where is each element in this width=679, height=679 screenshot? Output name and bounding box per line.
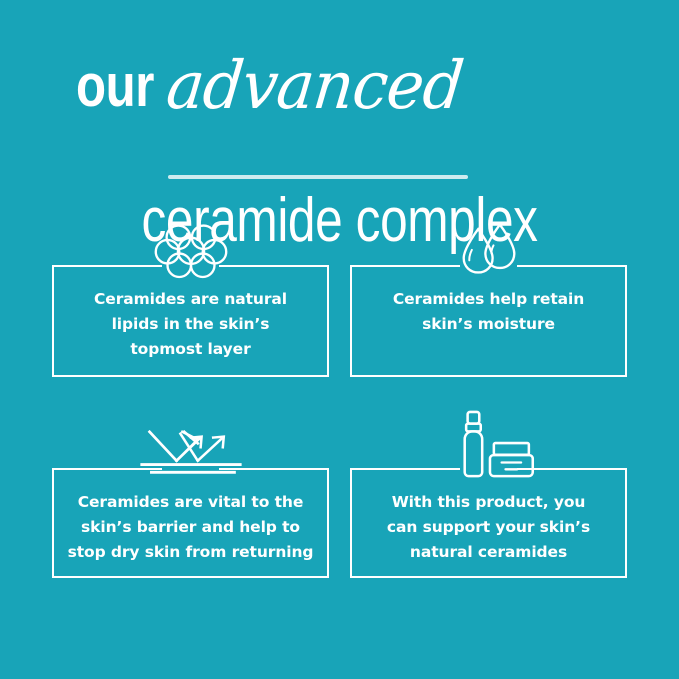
headline-line-1: ouradvanced [0,52,679,120]
headline-word-advanced: advanced [164,52,467,120]
fact-card-text: With this product, you can support your … [360,490,617,565]
page-title: ouradvanced ceramide complex [0,52,679,120]
fact-card-text: Ceramides help retain skin’s moisture [360,287,617,337]
card-top-border-left [350,265,460,267]
card-top-border-right [517,265,627,267]
fact-grid: Ceramides are natural lipids in the skin… [52,267,628,578]
ceramide-complex-infographic: ouradvanced ceramide complex [0,0,679,679]
fact-text-line: stop dry skin from returning [62,540,319,565]
card-top-border-right [219,265,329,267]
card-top-border-left [52,265,162,267]
skin-barrier-deflect-icon [136,426,246,480]
fact-text-line: topmost layer [62,337,319,362]
card-top-border-left [52,468,162,470]
fact-text-line: lipids in the skin’s [62,312,319,337]
fact-row-2: Ceramides are vital to the skin’s barrie… [52,470,628,578]
headline-word-our: our [76,52,154,120]
headline-line-2: ceramide complex [0,185,679,257]
card-top-border-left [350,468,460,470]
fact-card-ceramides-retain-moisture: Ceramides help retain skin’s moisture [350,267,627,377]
fact-text-line: natural ceramides [360,540,617,565]
fact-text-line: Ceramides are vital to the [62,490,319,515]
fact-card-text: Ceramides are natural lipids in the skin… [62,287,319,362]
headline-subtitle-text: ceramide complex [141,185,537,257]
fact-row-1: Ceramides are natural lipids in the skin… [52,267,628,377]
fact-text-line: Ceramides help retain [360,287,617,312]
fact-text-line: Ceramides are natural [62,287,319,312]
card-top-border-right [219,468,329,470]
card-top-border-right [517,468,627,470]
fact-card-support-natural-ceramides: With this product, you can support your … [350,470,627,578]
fact-text-line: With this product, you [360,490,617,515]
fact-text-line: skin’s moisture [360,312,617,337]
fact-text-line: skin’s barrier and help to [62,515,319,540]
fact-card-ceramides-natural-lipids: Ceramides are natural lipids in the skin… [52,267,329,377]
headline-underline [168,175,468,179]
fact-text-line: can support your skin’s [360,515,617,540]
fact-card-ceramides-vital-barrier: Ceramides are vital to the skin’s barrie… [52,470,329,578]
fact-card-text: Ceramides are vital to the skin’s barrie… [62,490,319,565]
